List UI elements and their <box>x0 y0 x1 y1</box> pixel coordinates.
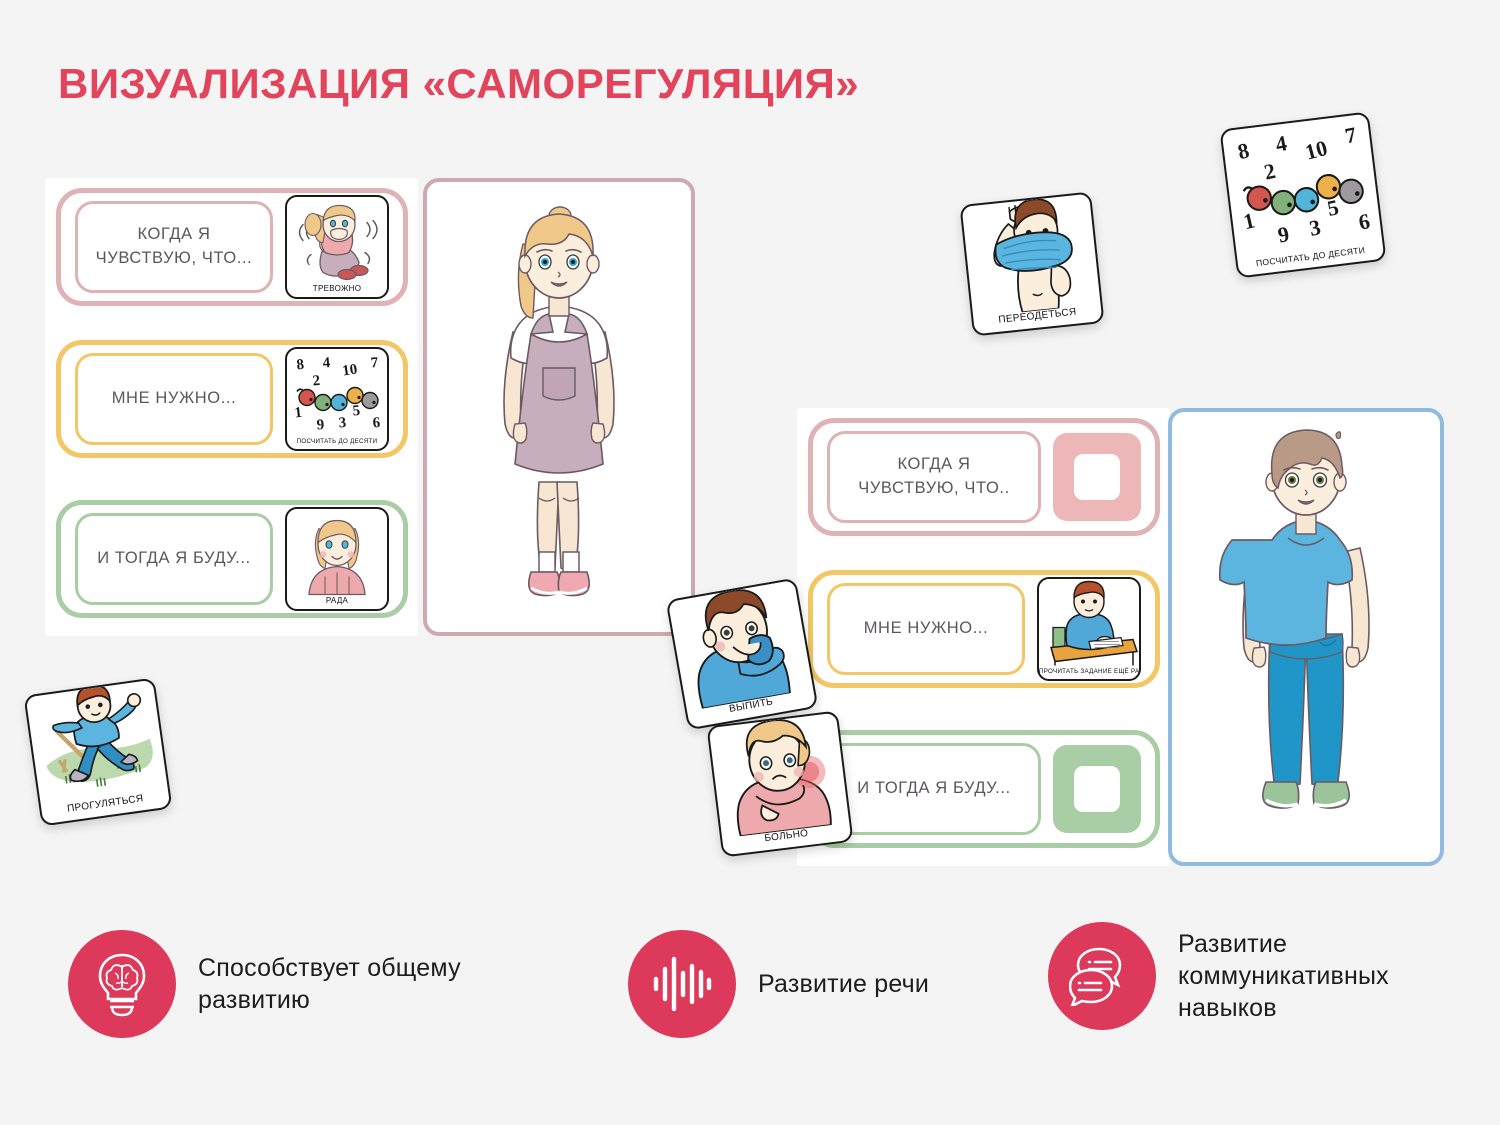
feature-label: Развитие речи <box>758 968 929 1000</box>
slot-need-girl[interactable]: 8 4 10 7 2 1 9 3 5 6 <box>285 347 389 451</box>
girl-hurt-illustration <box>709 713 850 839</box>
boy-drinking-illustration <box>668 580 813 712</box>
svg-text:8: 8 <box>296 357 305 374</box>
speech-bubbles-icon <box>1069 946 1135 1006</box>
svg-text:4: 4 <box>322 355 331 372</box>
floating-card-change-clothes[interactable]: ПЕРЕОДЕТЬСЯ <box>959 191 1104 336</box>
strip-result-boy[interactable]: И ТОГДА Я БУДУ... <box>808 730 1160 848</box>
svg-text:6: 6 <box>372 415 381 432</box>
strip-label-need-girl: МНЕ НУЖНО... <box>75 353 273 445</box>
feature-badge <box>628 930 736 1038</box>
svg-text:7: 7 <box>1343 122 1359 149</box>
floating-card-drink[interactable]: ВЫПИТЬ <box>666 578 819 731</box>
feature-badge <box>1048 922 1156 1030</box>
lightbulb-brain-icon <box>91 951 153 1017</box>
anxious-girl-illustration <box>287 197 387 284</box>
slot-result-boy[interactable] <box>1053 745 1141 833</box>
slot-result-girl[interactable]: РАДА <box>285 507 389 611</box>
pictogram-card-glad[interactable]: РАДА <box>285 507 389 611</box>
card-caption: ПРОЧИТАТЬ ЗАДАНИЕ ЕЩЁ РАЗ <box>1039 668 1139 679</box>
character-panel-girl <box>423 178 695 636</box>
strip-need-boy[interactable]: МНЕ НУЖНО... <box>808 570 1160 688</box>
empty-card-slot-pink[interactable] <box>1053 433 1141 521</box>
strip-label-need-boy: МНЕ НУЖНО... <box>827 583 1025 675</box>
counting-beads-illustration: 8 4 10 7 2 1 9 3 5 6 <box>287 349 387 438</box>
feature-label: Способствует общему развитию <box>198 952 568 1016</box>
floating-card-hurts[interactable]: БОЛЬНО <box>706 710 853 857</box>
floating-card-count-to-ten[interactable]: 8 4 10 7 2 1 9 3 5 6 <box>1219 111 1386 278</box>
pictogram-card-anxious[interactable]: ТРЕВОЖНО <box>285 195 389 299</box>
svg-text:2: 2 <box>1262 158 1278 185</box>
strip-label-result-girl: И ТОГДА Я БУДУ... <box>75 513 273 605</box>
feature-general-development: Способствует общему развитию <box>68 930 568 1038</box>
feature-speech-development: Развитие речи <box>628 930 988 1038</box>
card-caption: РАДА <box>287 596 387 609</box>
svg-text:8: 8 <box>1235 137 1251 164</box>
svg-text:10: 10 <box>1302 135 1330 165</box>
pictogram-card-count-to-ten[interactable]: 8 4 10 7 2 1 9 3 5 6 <box>285 347 389 451</box>
strip-feeling-boy[interactable]: КОГДА ЯЧУВСТВУЮ, ЧТО.. <box>808 418 1160 536</box>
page-title: ВИЗУАЛИЗАЦИЯ «САМОРЕГУЛЯЦИЯ» <box>58 60 859 108</box>
card-caption: ТРЕВОЖНО <box>287 284 387 297</box>
boy-reading-illustration <box>1039 579 1139 668</box>
empty-slot-inner <box>1074 766 1120 812</box>
strip-need-girl[interactable]: МНЕ НУЖНО... 8 4 10 7 2 1 9 3 <box>56 340 408 458</box>
svg-text:4: 4 <box>1273 130 1289 157</box>
svg-text:7: 7 <box>370 355 379 372</box>
strip-result-girl[interactable]: И ТОГДА Я БУДУ... <box>56 500 408 618</box>
svg-text:9: 9 <box>1276 221 1292 248</box>
svg-text:1: 1 <box>1241 207 1257 234</box>
strip-feeling-girl[interactable]: КОГДА ЯЧУВСТВУЮ, ЧТО... <box>56 188 408 306</box>
svg-text:3: 3 <box>338 415 347 431</box>
svg-text:3: 3 <box>1307 214 1323 241</box>
poster-canvas: ВИЗУАЛИЗАЦИЯ «САМОРЕГУЛЯЦИЯ» КОГДА ЯЧУВС… <box>0 0 1500 1125</box>
strip-label-feeling-boy: КОГДА ЯЧУВСТВУЮ, ЧТО.. <box>827 431 1041 523</box>
svg-text:10: 10 <box>341 362 358 380</box>
empty-card-slot-green[interactable] <box>1053 745 1141 833</box>
svg-text:5: 5 <box>352 403 361 420</box>
feature-badge <box>68 930 176 1038</box>
svg-text:2: 2 <box>312 373 321 390</box>
floating-card-walk[interactable]: ПРОГУЛЯТЬСЯ <box>23 677 172 826</box>
svg-text:1: 1 <box>294 405 303 422</box>
boy-changing-illustration <box>962 194 1101 318</box>
pictogram-card-read-task-again[interactable]: ПРОЧИТАТЬ ЗАДАНИЕ ЕЩЁ РАЗ <box>1037 577 1141 681</box>
svg-text:9: 9 <box>316 417 325 433</box>
slot-need-boy[interactable]: ПРОЧИТАТЬ ЗАДАНИЕ ЕЩЁ РАЗ <box>1037 577 1141 681</box>
boy-walking-illustration <box>26 680 168 808</box>
feature-label: Развитие коммуникативных навыков <box>1178 928 1478 1024</box>
slot-feeling-boy[interactable] <box>1053 433 1141 521</box>
happy-girl-illustration <box>287 509 387 596</box>
slot-feeling-girl[interactable]: ТРЕВОЖНО <box>285 195 389 299</box>
character-panel-boy <box>1168 408 1444 866</box>
feature-communication-skills: Развитие коммуникативных навыков <box>1048 922 1478 1030</box>
empty-slot-inner <box>1074 454 1120 500</box>
card-caption: ПОСЧИТАТЬ ДО ДЕСЯТИ <box>287 438 387 449</box>
strip-label-feeling-girl: КОГДА ЯЧУВСТВУЮ, ЧТО... <box>75 201 273 293</box>
counting-beads-illustration: 8 4 10 7 2 1 9 3 5 6 <box>1222 114 1383 261</box>
svg-text:6: 6 <box>1356 208 1372 235</box>
sound-wave-icon <box>651 953 713 1015</box>
strip-label-result-boy: И ТОГДА Я БУДУ... <box>827 743 1041 835</box>
